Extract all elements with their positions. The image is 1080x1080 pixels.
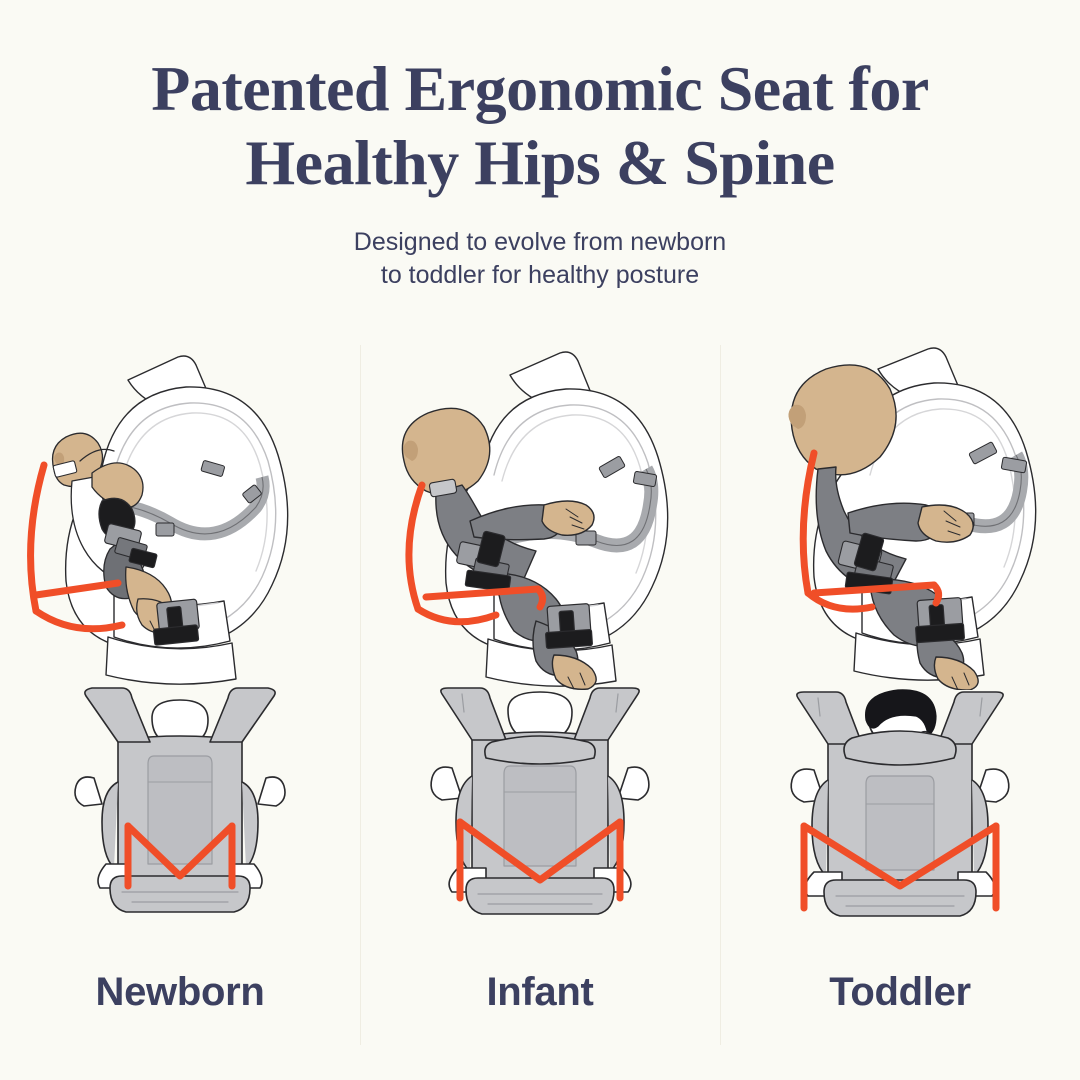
panel-label-toddler: Toddler [720, 970, 1080, 1015]
infographic-page: Patented Ergonomic Seat for Healthy Hips… [0, 0, 1080, 1080]
page-subtitle-line-2: to toddler for healthy posture [0, 259, 1080, 292]
page-title-line-2: Healthy Hips & Spine [0, 126, 1080, 200]
panel-label-newborn: Newborn [0, 970, 360, 1015]
comparison-panels: Newborn [0, 345, 1080, 1045]
panel-label-infant: Infant [360, 970, 720, 1015]
toddler-side-view-illustration [730, 345, 1070, 690]
page-subtitle: Designed to evolve from newborn to toddl… [0, 226, 1080, 292]
page-title-line-1: Patented Ergonomic Seat for [0, 52, 1080, 126]
newborn-front-view-illustration [10, 686, 350, 931]
panel-newborn: Newborn [0, 345, 360, 1045]
page-title: Patented Ergonomic Seat for Healthy Hips… [0, 0, 1080, 200]
panel-toddler: Toddler [720, 345, 1080, 1045]
newborn-side-view-illustration [10, 345, 350, 690]
infant-side-view-illustration [370, 345, 710, 690]
header: Patented Ergonomic Seat for Healthy Hips… [0, 0, 1080, 292]
page-subtitle-line-1: Designed to evolve from newborn [0, 226, 1080, 259]
infant-front-view-illustration [370, 686, 710, 931]
toddler-front-view-illustration [730, 686, 1070, 931]
panel-infant: Infant [360, 345, 720, 1045]
